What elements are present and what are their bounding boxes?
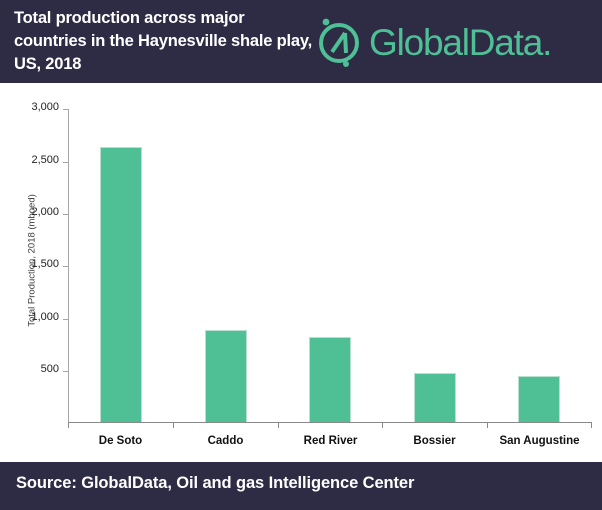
chart-canvas: Total Production, 2018 (mboed) 500 1,000… <box>0 83 602 462</box>
bar-de-soto[interactable] <box>100 147 142 422</box>
chart-header: Total production across major countries … <box>0 0 602 83</box>
x-tick-3 <box>382 422 383 428</box>
bar-bossier[interactable] <box>414 373 456 422</box>
y-axis-line <box>68 109 69 423</box>
x-tick-1 <box>173 422 174 428</box>
x-label-caddo: Caddo <box>173 435 278 447</box>
chart-footer: Source: GlobalData, Oil and gas Intellig… <box>0 462 602 510</box>
source-text: Source: GlobalData, Oil and gas Intellig… <box>16 474 414 493</box>
x-label-de-soto: De Soto <box>68 435 173 447</box>
x-axis-line <box>68 422 592 423</box>
chart-figure: Total production across major countries … <box>0 0 602 510</box>
x-label-red-river: Red River <box>278 435 383 447</box>
x-label-san-augustine: San Augustine <box>487 435 592 447</box>
x-tick-2 <box>278 422 279 428</box>
globaldata-circle-slash-icon <box>313 14 365 70</box>
plot-area: 500 1,000 1,500 2,000 2,500 3,000 <box>68 83 592 462</box>
bar-san-augustine[interactable] <box>518 376 560 422</box>
y-tick-2000: 2,000 <box>63 214 68 215</box>
y-tick-2500: 2,500 <box>63 162 68 163</box>
x-tick-5 <box>591 422 592 428</box>
y-tick-1000: 1,000 <box>63 319 68 320</box>
y-tick-500: 500 <box>63 371 68 372</box>
page-title: Total production across major countries … <box>14 7 314 76</box>
bar-red-river[interactable] <box>309 337 351 422</box>
x-label-bossier: Bossier <box>382 435 487 447</box>
x-tick-4 <box>487 422 488 428</box>
x-tick-0 <box>68 422 69 428</box>
globaldata-wordmark: GlobalData. <box>369 24 551 61</box>
y-tick-3000: 3,000 <box>63 109 68 110</box>
bar-caddo[interactable] <box>205 330 247 422</box>
globaldata-logo: GlobalData. <box>313 14 551 70</box>
y-tick-1500: 1,500 <box>63 266 68 267</box>
